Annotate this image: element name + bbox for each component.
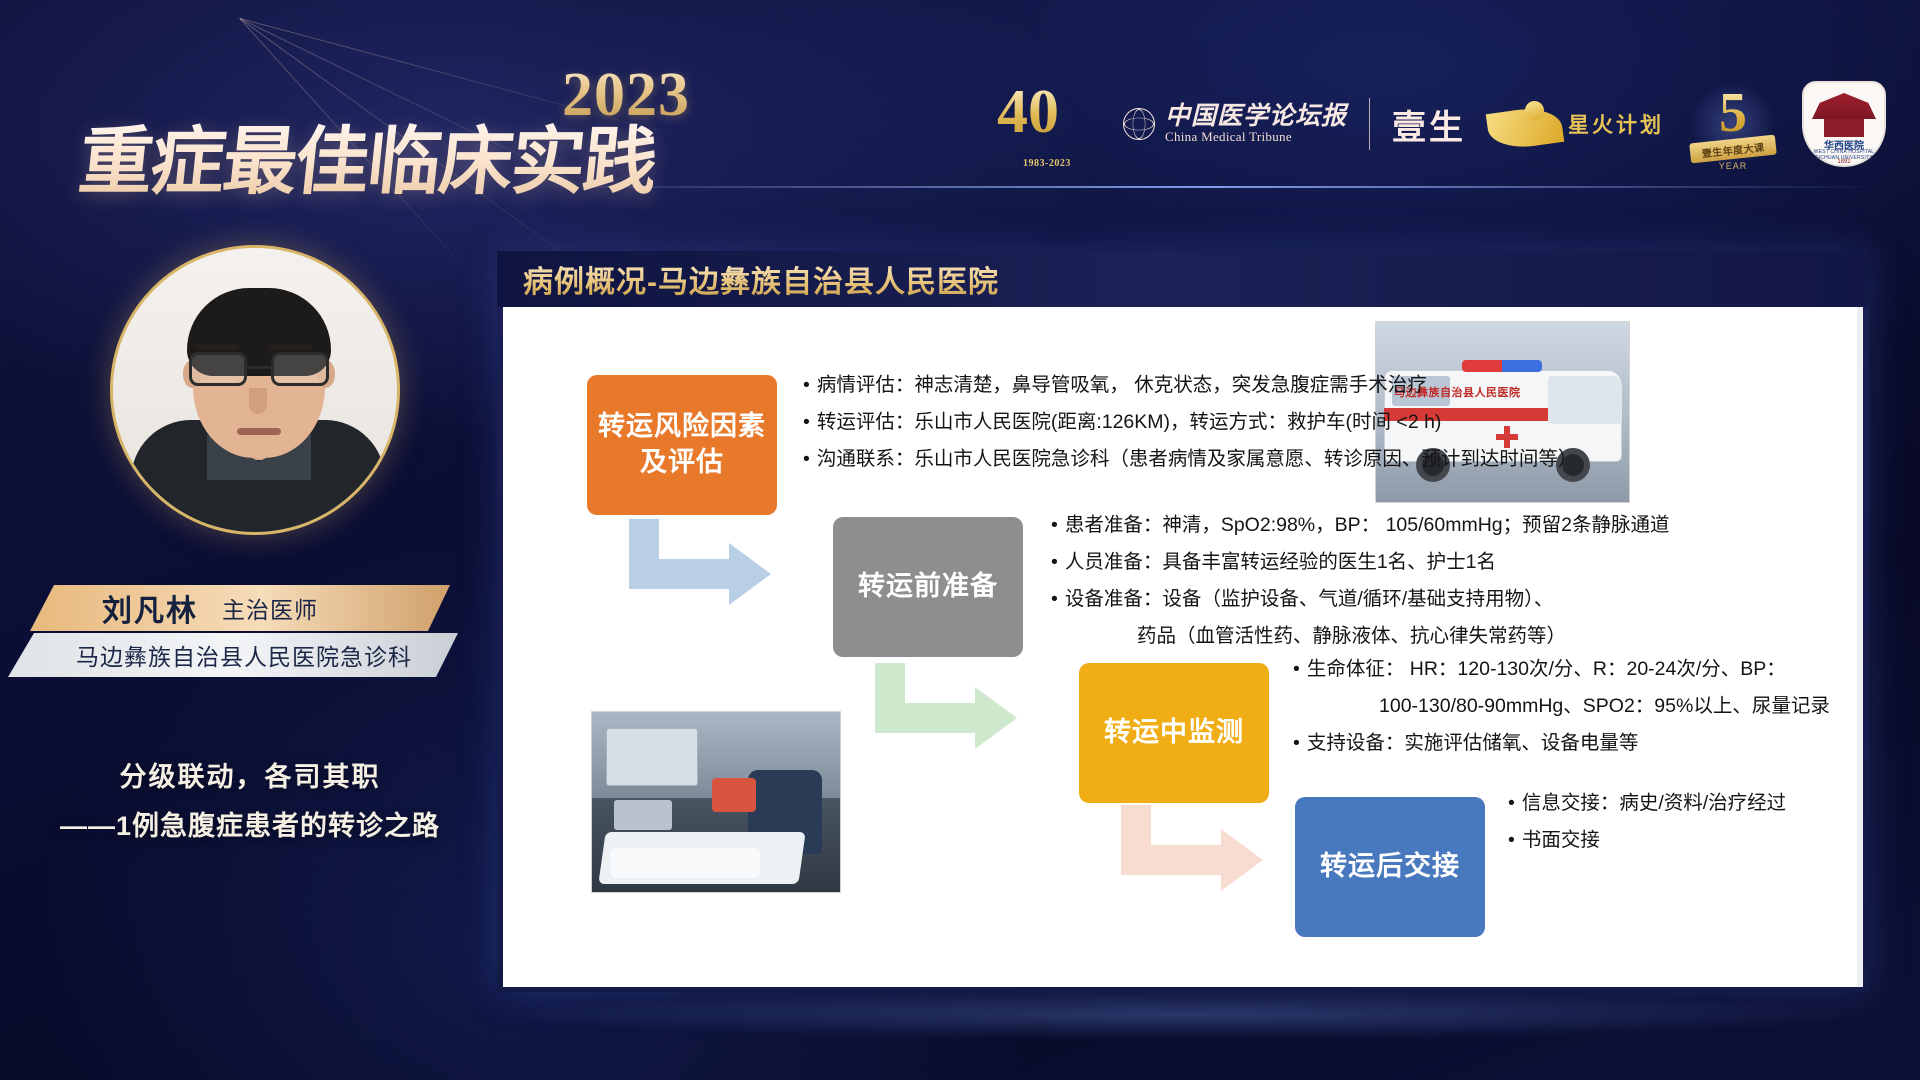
arrow-step-3-to-4 [1121,805,1281,913]
crest-established-year: 1892 [1802,159,1886,165]
arrow-step-2-to-3 [875,663,1035,771]
anniversary-years: 1983-2023 [1023,158,1071,169]
slide-content: 马边彝族自治县人民医院 转运风险因素及评估 转运前准备 转运中监测 转运后交接 [503,307,1863,987]
bullet-continuation: 药品（血管活性药、静脉液体、抗心律失常药等） [1051,618,1669,655]
speaker-panel: 刘凡林 主治医师 马边彝族自治县人民医院急诊科 分级联动，各司其职 ——1例急腹… [0,215,500,1080]
bullets-section-1: 病情评估：神志清楚，鼻导管吸氧， 休克状态，突发急腹症需手术治疗 转运评估：乐山… [803,367,1577,478]
bullet-item: 病情评估：神志清楚，鼻导管吸氧， 休克状态，突发急腹症需手术治疗 [803,367,1577,404]
china-medical-tribune-logo: 中国医学论坛报 China Medical Tribune [1123,104,1347,144]
bullets-section-3: 生命体征： HR：120-130次/分、R：20-24次/分、BP： 100-1… [1293,651,1830,762]
bullet-item: 生命体征： HR：120-130次/分、R：20-24次/分、BP： [1293,651,1830,688]
anniversary-number: 40 [997,81,1101,143]
slide-title-bar: 病例概况-马边彝族自治县人民医院 [497,251,1869,307]
spark-plan-label: 星火计划 [1568,109,1664,139]
eyeglasses-icon [189,352,329,388]
arrow-step-1-to-2 [629,519,789,627]
badge-year-label: YEAR [1719,161,1748,171]
slide-title: 病例概况-马边彝族自治县人民医院 [523,257,999,301]
topic-line-1: 分级联动，各司其职 [0,755,500,794]
yisheng-logo: 壹生 [1392,100,1466,149]
logo-row: 40 1983-2023 中国医学论坛报 China Medical Tribu… [997,78,1886,170]
speaker-name-bar: 刘凡林 主治医师 [30,585,450,631]
bullet-item: 设备准备：设备（监护设备、气道/循环/基础支持用物）、 [1051,581,1669,618]
bullet-item: 患者准备：神清，SpO2:98%，BP： 105/60mmHg；预留2条静脉通道 [1051,507,1669,544]
presentation-stage: 2023 重症最佳临床实践 40 1983-2023 中国医学论坛报 China… [0,0,1920,1080]
badge-number: 5 [1719,85,1747,141]
bullet-item: 转运评估：乐山市人民医院(距离:126KM)，转运方式：救护车(时间 <2 h) [803,404,1577,441]
speaker-name: 刘凡林 [102,586,198,630]
gate-icon [1824,119,1864,137]
event-title-block: 2023 重症最佳临床实践 [72,30,752,195]
talk-topic: 分级联动，各司其职 ——1例急腹症患者的转诊之路 [0,755,500,843]
speaker-rank: 主治医师 [222,591,318,625]
tribune-text: 中国医学论坛报 China Medical Tribune [1165,104,1347,144]
speaker-avatar [110,245,400,535]
spark-plan-logo: 星火计划 [1488,99,1664,149]
flow-box-pre-transport-prep: 转运前准备 [833,517,1023,657]
bullet-item: 人员准备：具备丰富转运经验的医生1名、护士1名 [1051,544,1669,581]
bullets-section-4: 信息交接：病史/资料/治疗经过 书面交接 [1508,785,1786,859]
bullets-section-2: 患者准备：神清，SpO2:98%，BP： 105/60mmHg；预留2条静脉通道… [1051,507,1669,655]
flow-box-during-transport-monitoring: 转运中监测 [1079,663,1269,803]
speaker-affiliation-bar: 马边彝族自治县人民医院急诊科 [8,633,458,677]
anniversary-40-logo: 40 1983-2023 [997,81,1101,167]
flying-figure-icon [1488,99,1562,149]
bottom-glow [497,990,1869,1040]
event-title: 重症最佳临床实践 [74,102,661,209]
logo-divider [1369,98,1370,150]
bullet-item: 书面交接 [1508,822,1786,859]
tribune-name-cn: 中国医学论坛报 [1165,104,1347,130]
tribune-name-en: China Medical Tribune [1165,130,1347,144]
flow-box-post-transport-handover: 转运后交接 [1295,797,1485,937]
speaker-affiliation: 马边彝族自治县人民医院急诊科 [76,638,412,672]
fifth-anniversary-badge: 5 壹生年度大课 YEAR [1686,81,1780,167]
bullet-item: 信息交接：病史/资料/治疗经过 [1508,785,1786,822]
ambulance-interior-photo [591,711,841,893]
bullet-item: 沟通联系：乐山市人民医院急诊科（患者病情及家属意愿、转诊原因、预计到达时间等） [803,441,1577,478]
flow-box-transport-risk: 转运风险因素及评估 [587,375,777,515]
slide-right-edge [1857,307,1863,987]
event-banner: 2023 重症最佳临床实践 40 1983-2023 中国医学论坛报 China… [0,0,1920,215]
bullet-item: 支持设备：实施评估储氧、设备电量等 [1293,725,1830,762]
bullet-continuation: 100-130/80-90mmHg、SPO2：95%以上、尿量记录 [1293,688,1830,725]
west-china-hospital-crest: 华西医院 WEST CHINA HOSPITAL SICHUAN UNIVERS… [1802,81,1886,167]
globe-icon [1123,108,1155,140]
topic-line-2: ——1例急腹症患者的转诊之路 [0,804,500,843]
